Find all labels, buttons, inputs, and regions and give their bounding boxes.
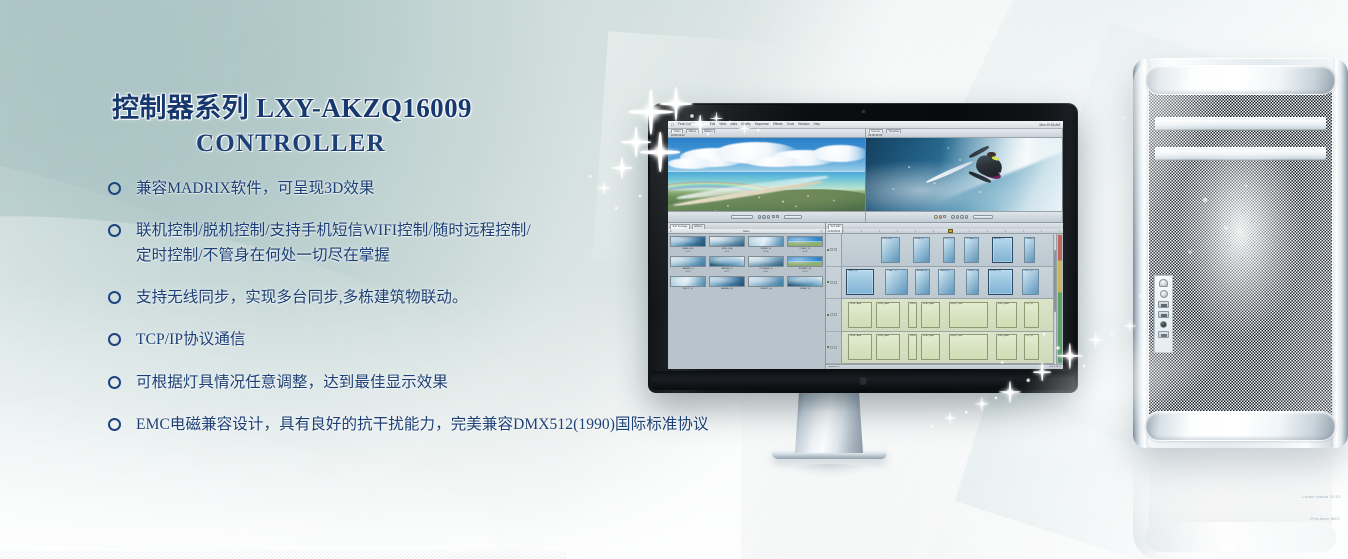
feature-list: 兼容MADRIX软件，可呈现3D效果 联机控制/脱机控制/支持手机短信WIFI控… bbox=[108, 176, 868, 454]
bullet-circle-icon bbox=[108, 176, 136, 198]
tab-video[interactable]: Video bbox=[671, 129, 683, 133]
clip-label: OUT_01 bbox=[1025, 335, 1038, 338]
tower-top-handle[interactable] bbox=[1145, 65, 1336, 95]
list-item: 支持无线同步，实现多台同步,多栋建筑物联动。 bbox=[108, 285, 868, 310]
marketing-text-block: 控制器系列 LXY-AKZQ16009 CONTROLLER 兼容MADRIX软… bbox=[0, 0, 640, 559]
apple-logo-icon[interactable]:  bbox=[671, 122, 674, 127]
webcam-icon bbox=[862, 110, 865, 113]
clip-label: DROP_12 bbox=[944, 238, 955, 241]
timeline-clip[interactable]: WIND bbox=[908, 302, 917, 328]
timeline-clip[interactable]: SURF_AMB bbox=[921, 302, 940, 328]
clip-label: PADDLE_5 bbox=[939, 270, 954, 273]
viewer-right-tabs[interactable]: Canvas Timeline bbox=[869, 129, 1060, 133]
product-banner: 控制器系列 LXY-AKZQ16009 CONTROLLER 兼容MADRIX软… bbox=[0, 0, 1348, 559]
feature-text: 联机控制/脱机控制/支持手机短信WIFI控制/随时远程控制/ 定时控制/不管身在… bbox=[136, 218, 531, 268]
menu-bar[interactable]:  Final Cut Pro File Edit View Mark Modi… bbox=[668, 121, 1063, 129]
mac-pro-tower bbox=[1133, 58, 1348, 448]
clip-label: FOAM_15 bbox=[1025, 238, 1034, 241]
power-button[interactable] bbox=[1160, 290, 1168, 298]
timeline-clip[interactable]: WIND bbox=[908, 334, 917, 360]
optical-drive-slot[interactable] bbox=[1155, 147, 1326, 160]
feature-text: 兼容MADRIX软件，可呈现3D效果 bbox=[136, 176, 375, 201]
clip-label: OUT_01 bbox=[1025, 303, 1038, 306]
forward-button[interactable] bbox=[960, 215, 963, 218]
playhead[interactable] bbox=[949, 229, 950, 233]
timeline-clip[interactable]: OUT_01 bbox=[1024, 334, 1039, 360]
viewer-left-timecode[interactable]: 01:00:14:12 bbox=[671, 134, 862, 137]
feature-text: EMC电磁兼容设计，具有良好的抗干扰能力，完美兼容DMX512(1990)国际标… bbox=[136, 412, 709, 437]
cloud-shape bbox=[747, 157, 806, 167]
io-port-strip bbox=[1154, 275, 1173, 353]
clip-label: SURF_AMB bbox=[922, 335, 939, 338]
tower-reflection bbox=[1133, 452, 1348, 559]
viewer-left-tabs[interactable]: Video Filters Motion bbox=[671, 129, 862, 133]
timeline-clip[interactable]: SURF_AMB bbox=[876, 334, 900, 360]
page-subtitle: CONTROLLER bbox=[196, 130, 386, 158]
clip-label: MUSIC_BED bbox=[950, 303, 987, 306]
page-title: 控制器系列 LXY-AKZQ16009 bbox=[112, 86, 472, 125]
timeline-clip[interactable]: DROP_12 bbox=[943, 237, 956, 263]
clip-label: COAST_11 bbox=[886, 270, 908, 273]
timeline-clip[interactable]: FOAM_15 bbox=[1024, 237, 1035, 263]
footnote-line-1: Lorem ipsum 2013 bbox=[1302, 494, 1340, 499]
timeline-clip[interactable]: MUSIC_BED bbox=[949, 334, 988, 360]
timeline-clip[interactable]: CUTBACK_9 bbox=[964, 237, 979, 263]
feature-text: TCP/IP协议通信 bbox=[136, 327, 246, 352]
video-track-v2[interactable]: RIDE_02A SPRAY_07 DROP_12 CUTBACK_9 BARR… bbox=[842, 234, 1056, 267]
menu-item-help[interactable]: Help bbox=[813, 123, 820, 126]
list-item: 兼容MADRIX软件，可呈现3D效果 bbox=[108, 176, 868, 201]
timeline-clip[interactable]: BARREL_3 bbox=[992, 237, 1013, 263]
horizon-line bbox=[668, 171, 865, 172]
bullet-circle-icon bbox=[108, 327, 136, 349]
menu-item-effects[interactable]: Effects bbox=[773, 123, 783, 126]
tab-filters[interactable]: Filters bbox=[686, 129, 699, 133]
clip-label: RIDE_02A bbox=[882, 238, 899, 241]
audio-track-a1[interactable]: SURF_AMB SURF_AMB WIND SURF_AMB MUSIC_BE… bbox=[842, 299, 1056, 332]
tower-left-edge bbox=[1133, 58, 1148, 448]
audio-track-a2[interactable]: SURF_AMB SURF_AMB WIND SURF_AMB MUSIC_BE… bbox=[842, 332, 1056, 365]
clip-label: WIND bbox=[909, 303, 916, 306]
viewer-left-header: Video Filters Motion 01:00:14:12 bbox=[668, 129, 866, 137]
tab-motion[interactable]: Motion bbox=[702, 129, 715, 133]
menu-item-mark[interactable]: Mark bbox=[730, 123, 737, 126]
water-spray-particles bbox=[866, 138, 1063, 211]
timeline-clip[interactable]: SURF_AMB bbox=[876, 302, 900, 328]
footnote-line-2: Precision MK2 bbox=[1310, 516, 1340, 521]
list-item: 可根据灯具情况任意调整，达到最佳显示效果 bbox=[108, 370, 868, 395]
timeline-clip[interactable]: SURF_AMB bbox=[996, 302, 1017, 328]
timeline-clip[interactable]: SURF_AMB bbox=[996, 334, 1017, 360]
rewind-button[interactable] bbox=[951, 215, 954, 218]
menu-bar-clock[interactable]: Mon 10:54 AM bbox=[1039, 123, 1060, 127]
clip-label: CUTBACK_9 bbox=[965, 238, 978, 241]
record-button[interactable] bbox=[939, 215, 942, 218]
headphone-jack-icon[interactable] bbox=[1160, 321, 1167, 328]
cloud-shape bbox=[813, 145, 865, 163]
surfer-wave-image bbox=[866, 138, 1063, 211]
timeline-clip[interactable]: OUT_01 bbox=[1024, 302, 1039, 328]
timeline-clip[interactable]: SUNSET_04 bbox=[988, 269, 1014, 295]
menu-item-file[interactable]: File bbox=[701, 123, 706, 126]
menu-item-window[interactable]: Window bbox=[798, 123, 809, 126]
timeline-clip[interactable]: MUSIC_BED bbox=[949, 302, 988, 328]
clip-label: SURF_AMB bbox=[922, 303, 939, 306]
feature-text: 支持无线同步，实现多台同步,多栋建筑物联动。 bbox=[136, 285, 468, 310]
usb-port-icon[interactable] bbox=[1158, 301, 1169, 308]
bullet-circle-icon bbox=[108, 370, 136, 392]
playback-buttons-right[interactable] bbox=[951, 215, 968, 218]
timeline-scrollbar[interactable] bbox=[1053, 234, 1057, 364]
menu-item-tools[interactable]: Tools bbox=[787, 123, 794, 126]
clip-label: SUNSET_04 bbox=[989, 270, 1013, 273]
keyframe-button[interactable] bbox=[943, 215, 946, 218]
timeline-clip[interactable]: SPRAY_07 bbox=[913, 237, 930, 263]
bullet-circle-icon bbox=[108, 218, 136, 240]
tower-front-panel bbox=[1149, 75, 1332, 431]
marker-buttons-right[interactable] bbox=[934, 215, 946, 218]
status-total-duration: 01:01:18:22 bbox=[1049, 366, 1061, 368]
tower-right-edge bbox=[1333, 58, 1348, 448]
scrollbar-thumb[interactable] bbox=[1054, 250, 1056, 312]
list-item: 联机控制/脱机控制/支持手机短信WIFI控制/随时远程控制/ 定时控制/不管身在… bbox=[108, 218, 868, 268]
tab-canvas[interactable]: Canvas bbox=[869, 129, 883, 133]
usb-port-icon[interactable] bbox=[1158, 311, 1169, 318]
bullet-circle-icon bbox=[108, 412, 136, 434]
optical-drive-slot[interactable] bbox=[1155, 117, 1326, 130]
clip-label: SURF_AMB bbox=[877, 303, 899, 306]
clip-label: SPRAY_07 bbox=[914, 238, 929, 241]
bullet-circle-icon bbox=[108, 285, 136, 307]
menu-item-app[interactable]: Final Cut Pro bbox=[678, 123, 697, 126]
clip-label: SURF_AMB bbox=[997, 335, 1016, 338]
viewer-tab-bars: Video Filters Motion 01:00:14:12 Canvas … bbox=[668, 129, 1063, 138]
timeline-clip[interactable]: LINEUP_06 bbox=[966, 269, 979, 295]
transport-right[interactable] bbox=[866, 212, 1064, 222]
video-track-v1[interactable]: WAVE_001 COAST_11 AERIAL_08 PADDLE_5 LIN… bbox=[842, 267, 1056, 300]
loop-button[interactable] bbox=[965, 215, 968, 218]
clip-label: LINEUP_06 bbox=[967, 270, 978, 273]
audio-line-out-icon[interactable] bbox=[1158, 331, 1169, 338]
tower-reflection-handle bbox=[1145, 522, 1336, 552]
clip-label: DROP_12 bbox=[1023, 270, 1038, 273]
clip-label: MUSIC_BED bbox=[950, 335, 987, 338]
audio-meter-right bbox=[1060, 235, 1062, 363]
menu-item-sequence[interactable]: Sequence bbox=[755, 123, 769, 126]
play-button[interactable] bbox=[956, 215, 959, 218]
audio-meters bbox=[1056, 234, 1063, 364]
audio-meter-left bbox=[1058, 235, 1060, 363]
monitor-stand-reflection bbox=[790, 464, 870, 478]
list-item: TCP/IP协议通信 bbox=[108, 327, 868, 352]
viewer-pane-right[interactable] bbox=[866, 138, 1064, 211]
clip-label: AERIAL_08 bbox=[916, 270, 929, 273]
timeline-clip[interactable]: COAST_11 bbox=[885, 269, 909, 295]
viewer-right-timecode[interactable]: 01:00:26:04 bbox=[869, 134, 1060, 137]
timeline-clip[interactable]: DROP_12 bbox=[1022, 269, 1039, 295]
menu-item-view[interactable]: View bbox=[719, 123, 726, 126]
timeline-clip[interactable]: RIDE_02A bbox=[881, 237, 900, 263]
firewire-port-icon[interactable] bbox=[1159, 279, 1168, 287]
timeline-clip[interactable]: AERIAL_08 bbox=[915, 269, 930, 295]
menu-item-edit[interactable]: Edit bbox=[710, 123, 716, 126]
clip-label: WIND bbox=[909, 335, 916, 338]
clip-label: SURF_AMB bbox=[997, 303, 1016, 306]
timeline-clip[interactable]: SURF_AMB bbox=[921, 334, 940, 360]
timeline-clip[interactable]: PADDLE_5 bbox=[938, 269, 955, 295]
feature-text: 可根据灯具情况任意调整，达到最佳显示效果 bbox=[136, 370, 448, 395]
marker-button[interactable] bbox=[934, 215, 937, 218]
clip-label: BARREL_3 bbox=[993, 238, 1012, 241]
tab-timeline-viewer[interactable]: Timeline bbox=[886, 129, 901, 133]
clip-label: SURF_AMB bbox=[877, 335, 899, 338]
menu-item-modify[interactable]: Modify bbox=[741, 123, 750, 126]
viewer-right-header: Canvas Timeline 01:00:26:04 bbox=[866, 129, 1064, 137]
tower-bottom-handle[interactable] bbox=[1145, 411, 1336, 441]
cloud-shape bbox=[668, 158, 715, 168]
list-item: EMC电磁兼容设计，具有良好的抗干扰能力，完美兼容DMX512(1990)国际标… bbox=[108, 412, 868, 437]
timeline-lanes: RIDE_02A SPRAY_07 DROP_12 CUTBACK_9 BARR… bbox=[842, 234, 1056, 364]
zoom-bar-right[interactable] bbox=[973, 215, 993, 218]
